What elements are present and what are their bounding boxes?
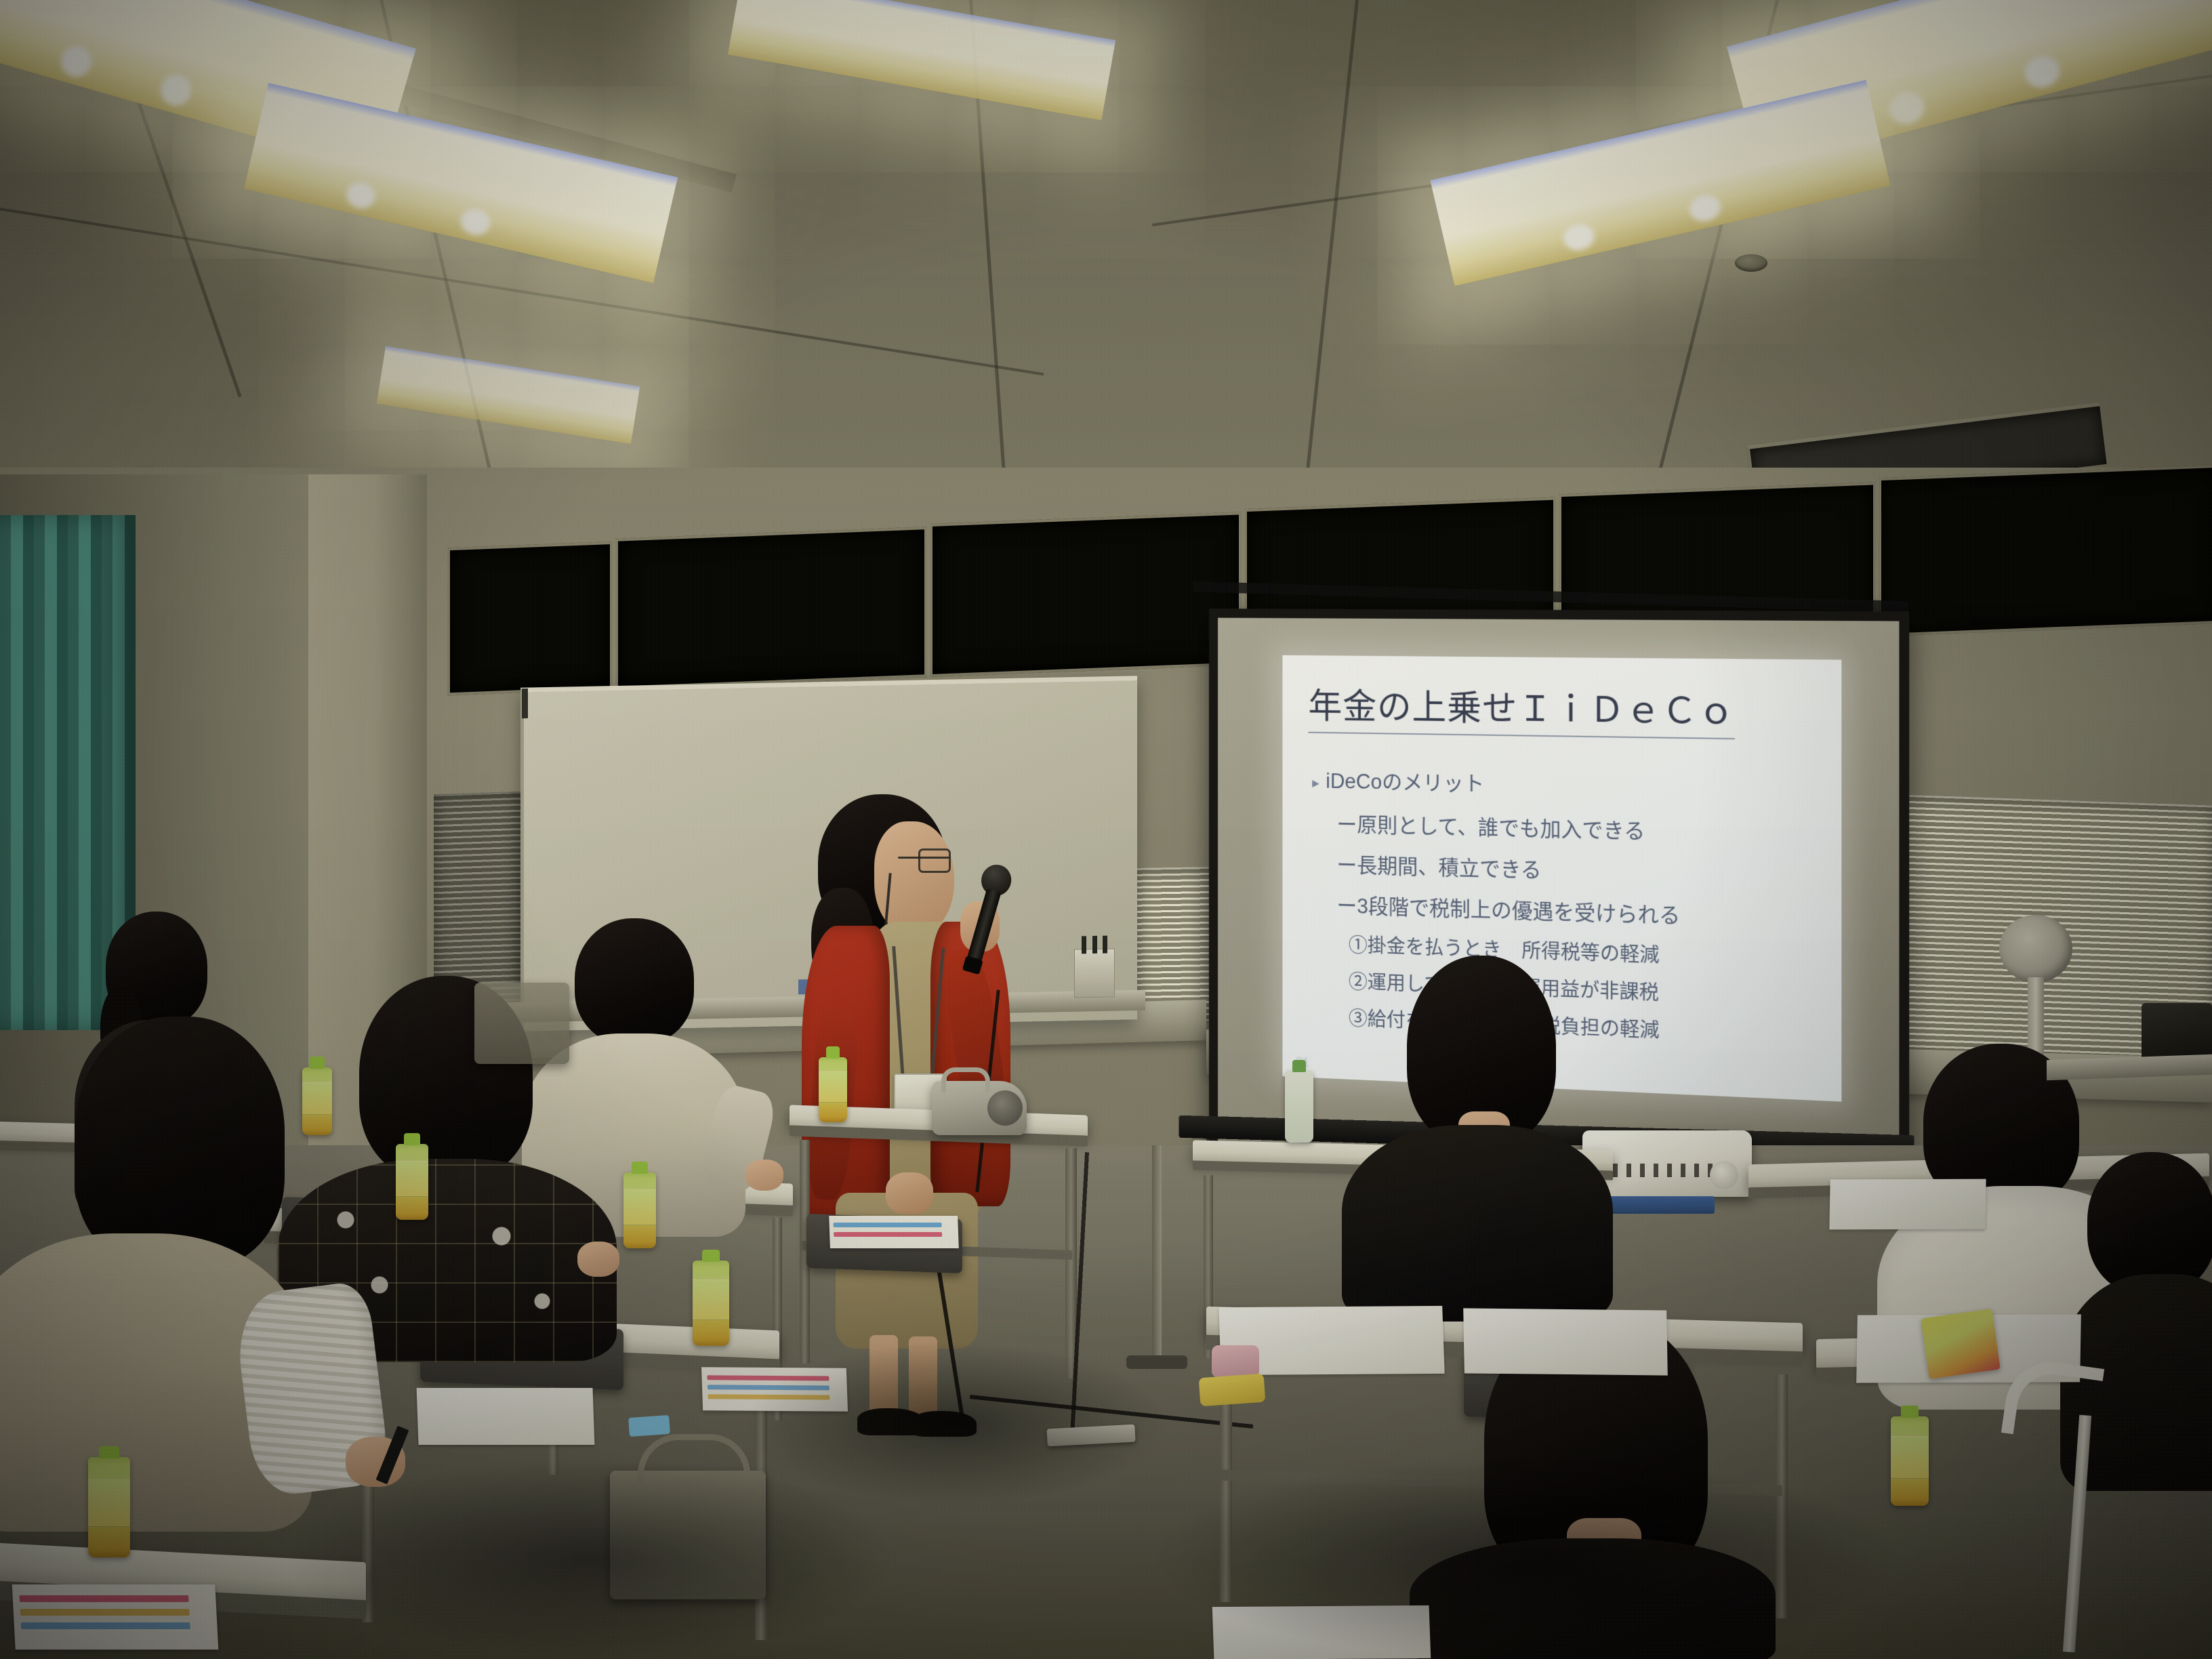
- attendee-hand: [577, 1242, 619, 1277]
- handbag: [474, 983, 569, 1064]
- handout-paper: [1463, 1308, 1668, 1375]
- bottle-label: [693, 1279, 729, 1320]
- drink-bottle: [623, 1172, 656, 1248]
- bottle-cap: [99, 1446, 119, 1458]
- slide-sub-bullet: ー原則として、誰でも加入できる: [1337, 807, 1818, 848]
- bottle-label: [819, 1071, 847, 1103]
- handout-paper: [1829, 1179, 1986, 1230]
- whiteboard-clip: [522, 689, 528, 718]
- bottle-label: [623, 1189, 656, 1226]
- pink-cup: [1212, 1345, 1259, 1378]
- bottle-cap: [310, 1057, 324, 1069]
- eraser: [628, 1415, 670, 1437]
- bottle-cap: [1292, 1060, 1306, 1072]
- slide-title: 年金の上乗せＩｉＤｅＣｏ: [1308, 678, 1734, 739]
- bottle-cap: [1901, 1406, 1919, 1418]
- bullet-marker-icon: ▸: [1312, 774, 1319, 791]
- colored-handout: [829, 1216, 959, 1248]
- handout-stripe: [834, 1232, 942, 1237]
- clerestory-window: [930, 512, 1242, 677]
- folding-umbrella: [2006, 1362, 2108, 1647]
- handout-stripe: [20, 1595, 189, 1602]
- presenter-hand: [886, 1172, 933, 1214]
- speaker-handle: [941, 1067, 990, 1092]
- projector-lens-icon: [1710, 1161, 1738, 1189]
- drink-bottle: [693, 1261, 729, 1346]
- handout-stripe: [834, 1223, 942, 1227]
- bottle-cap: [702, 1250, 720, 1262]
- drink-bottle: [302, 1067, 332, 1135]
- attendee-hair: [2087, 1152, 2212, 1294]
- portable-pa-speaker: [932, 1081, 1027, 1135]
- speaker-grill-icon: [987, 1090, 1023, 1126]
- numbered-item-no: ①: [1349, 935, 1368, 956]
- eyeglass-lens: [918, 848, 951, 873]
- drink-bottle: [88, 1457, 130, 1557]
- drink-bottle: [1285, 1071, 1313, 1143]
- bottle-cap: [632, 1162, 647, 1174]
- slide-sub-bullet: ー長期間、積立できる: [1337, 848, 1818, 891]
- seminar-room-photo: 年金の上乗せＩｉＤｅＣｏ ▸iDeCoのメリット ー原則として、誰でも加入できる…: [0, 0, 2212, 1659]
- clerestory-window: [615, 527, 927, 689]
- drink-bottle: [819, 1057, 847, 1122]
- floor-shadow: [1152, 1457, 1898, 1659]
- projector-ports: [1613, 1164, 1721, 1177]
- handout-paper: [417, 1388, 595, 1445]
- marker-pen-cup: [1074, 948, 1115, 998]
- colored-handout: [12, 1584, 219, 1650]
- snack-package: [1921, 1309, 2000, 1379]
- bottle-label: [88, 1479, 130, 1527]
- bottle-label: [302, 1082, 332, 1115]
- attendee-hair: [75, 1017, 285, 1267]
- attendee-r1: [1342, 956, 1613, 1315]
- slide-lead-bullet-text: iDeCoのメリット: [1326, 769, 1484, 796]
- clerestory-window: [447, 541, 613, 695]
- screen-stand-leg: [1152, 1145, 1162, 1369]
- umbrella-shaft: [2063, 1415, 2091, 1652]
- clerestory-window: [1879, 465, 2212, 637]
- handout-stripe: [21, 1622, 190, 1629]
- yellow-case: [1199, 1374, 1266, 1407]
- attendee-l2: [0, 1017, 400, 1532]
- bottle-cap: [826, 1046, 840, 1059]
- smoke-detector-icon: [1735, 254, 1767, 272]
- attendee-torso: [1342, 1125, 1613, 1322]
- floor-shadow: [745, 1342, 1166, 1504]
- slide-lead-bullet: ▸iDeCoのメリット: [1312, 763, 1818, 803]
- bottle-cap: [404, 1133, 419, 1145]
- handout-stripe: [20, 1609, 190, 1616]
- fan-head-icon: [1999, 915, 2072, 983]
- slide-sub-bullet: ー3段階で税制上の優遇を受けられる: [1337, 888, 1818, 933]
- bottle-label: [396, 1161, 428, 1197]
- microphone-body: [967, 888, 1002, 963]
- attendee-hand: [745, 1160, 783, 1191]
- drink-bottle: [396, 1144, 428, 1220]
